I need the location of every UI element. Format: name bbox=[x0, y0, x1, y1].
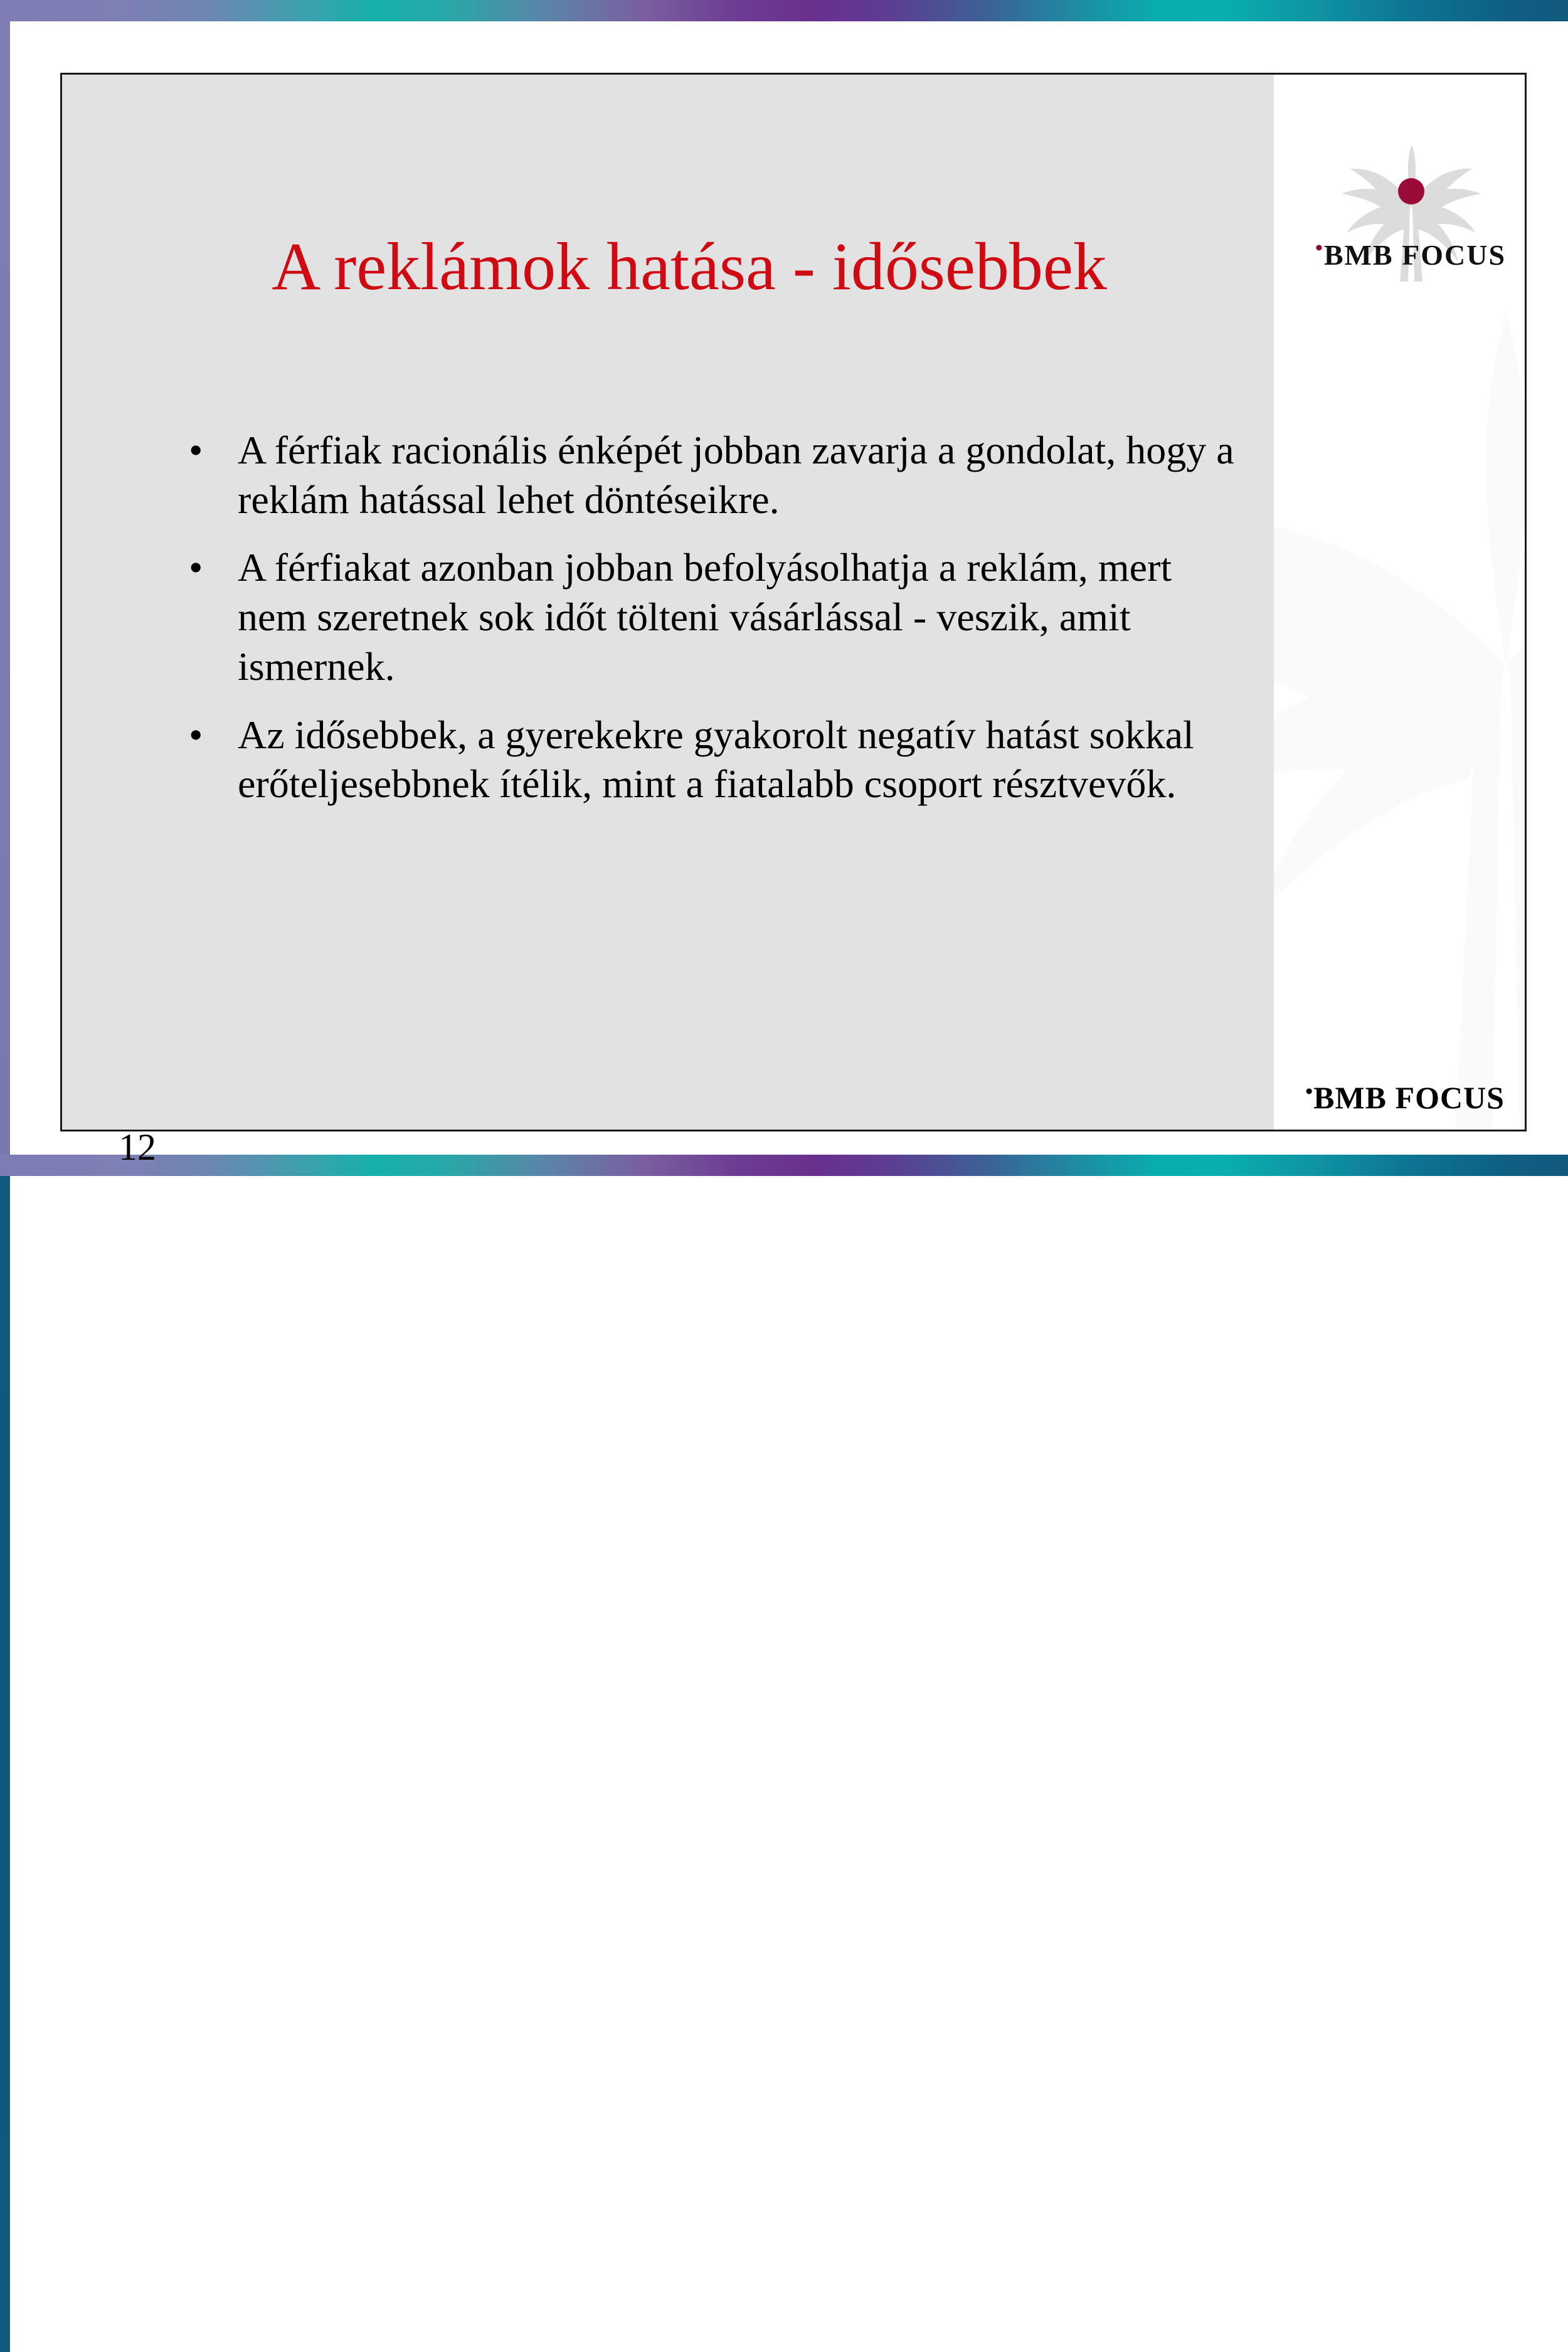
bullet-marker-icon: • bbox=[179, 426, 238, 475]
page-canvas: A reklámok hatása - idősebbek • A férfia… bbox=[10, 21, 1558, 1155]
footer-brand-text: BMB FOCUS bbox=[1313, 1080, 1505, 1115]
bullet-text: A férfiakat azonban jobban befolyásolhat… bbox=[238, 543, 1245, 691]
logo-accent-dot bbox=[1398, 178, 1424, 204]
brand-logo: •BMB FOCUS bbox=[1291, 144, 1525, 313]
slide-body: A reklámok hatása - idősebbek • A férfia… bbox=[62, 75, 1525, 1130]
list-item: • A férfiakat azonban jobban befolyásolh… bbox=[179, 543, 1245, 691]
presentation-slide: A reklámok hatása - idősebbek • A férfia… bbox=[60, 73, 1527, 1131]
frame-bottom-bar bbox=[0, 1155, 1568, 1176]
palm-watermark-icon bbox=[1274, 219, 1525, 1130]
footer-brand: •BMB FOCUS bbox=[1305, 1079, 1505, 1116]
bullet-text: A férfiak racionális énképét jobban zava… bbox=[238, 426, 1245, 524]
bullet-text: Az idősebbek, a gyerekekre gyakorolt neg… bbox=[238, 711, 1245, 809]
bullet-list: • A férfiak racionális énképét jobban za… bbox=[179, 426, 1245, 828]
footer-lead-dot-icon: • bbox=[1305, 1080, 1313, 1103]
list-item: • A férfiak racionális énképét jobban za… bbox=[179, 426, 1245, 524]
logo-wordmark: •BMB FOCUS bbox=[1291, 236, 1525, 272]
slide-title: A reklámok hatása - idősebbek bbox=[137, 231, 1241, 302]
logo-lead-dot-icon: • bbox=[1315, 236, 1324, 260]
frame-top-bar bbox=[0, 0, 1568, 21]
list-item: • Az idősebbek, a gyerekekre gyakorolt n… bbox=[179, 711, 1245, 809]
logo-brand-text: BMB FOCUS bbox=[1324, 239, 1506, 271]
frame-right-bar bbox=[0, 1176, 10, 2352]
bullet-marker-icon: • bbox=[179, 543, 238, 593]
frame-left-bar bbox=[0, 0, 10, 1176]
page-number: 12 bbox=[119, 1129, 194, 1166]
bullet-marker-icon: • bbox=[179, 711, 238, 760]
